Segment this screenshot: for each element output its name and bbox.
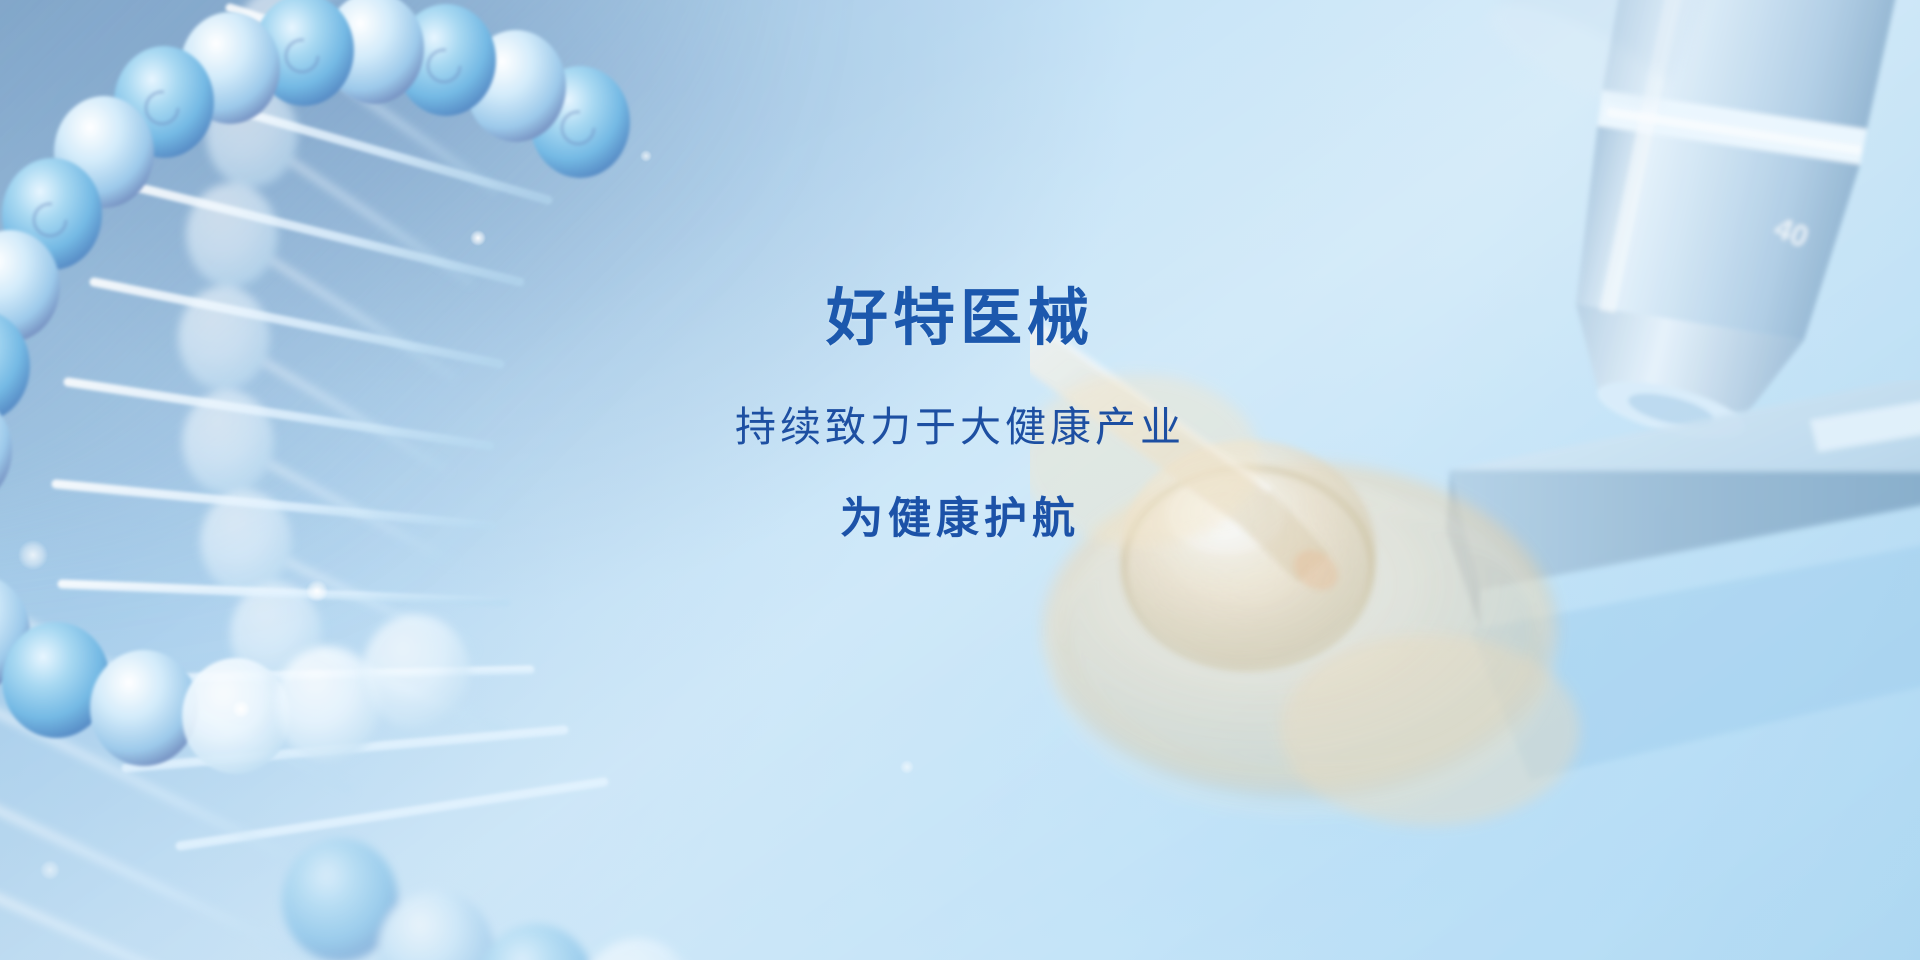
hero-text-block: 好特医械 持续致力于大健康产业 为健康护航 xyxy=(0,286,1920,543)
hero-subtitle: 持续致力于大健康产业 xyxy=(0,405,1920,450)
hero-tagline: 为健康护航 xyxy=(0,496,1920,543)
page-title: 好特医械 xyxy=(0,286,1920,353)
hero-banner: 40 xyxy=(0,0,1920,960)
